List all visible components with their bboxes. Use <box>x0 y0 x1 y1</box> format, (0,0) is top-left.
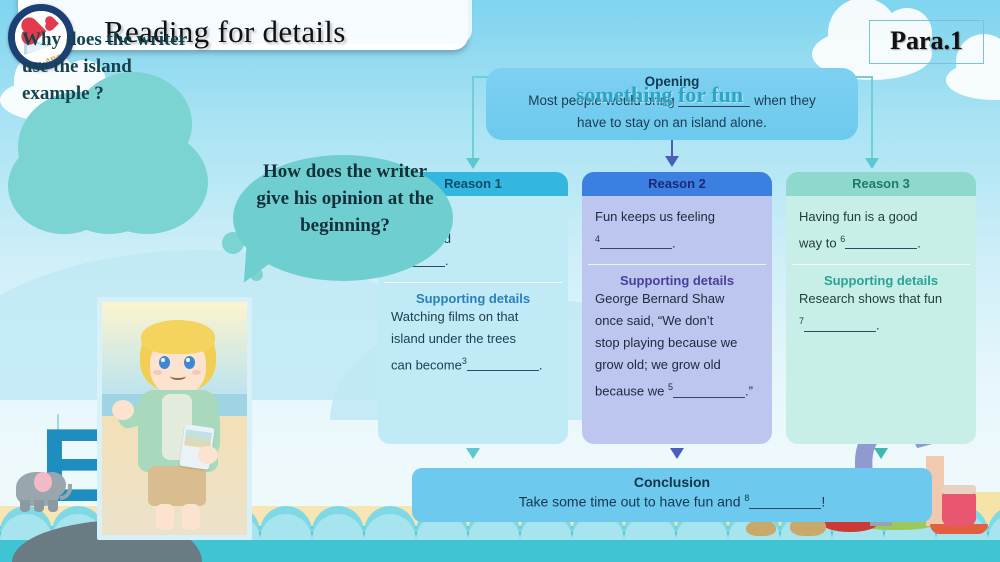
reason-2-sup-after: .” <box>745 384 753 399</box>
kid-character <box>126 318 230 528</box>
divider <box>588 264 766 265</box>
reason-3-sup-after: . <box>876 318 880 333</box>
reason-3-header: Reason 3 <box>786 172 976 196</box>
reason-2-sup-line4: grow old; we grow old <box>595 354 759 376</box>
conclusion-box: Conclusion Take some time out to have fu… <box>412 468 932 522</box>
conclusion-title: Conclusion <box>412 468 932 490</box>
paragraph-badge: Para.1 <box>869 20 984 64</box>
elephant-icon <box>8 460 70 512</box>
reason-3-supporting-body: Research shows that fun 7. <box>786 288 976 336</box>
reason-2-blank[interactable] <box>600 248 672 249</box>
arrow-down-icon <box>865 158 879 169</box>
reason-2-header: Reason 2 <box>582 172 772 196</box>
reason-2-sup-number: 5 <box>668 382 673 392</box>
divider <box>792 264 970 265</box>
reason-3-sup-number: 7 <box>799 316 804 326</box>
arrow-down-icon <box>466 448 480 459</box>
reason-3-blank-number: 6 <box>840 234 845 244</box>
reason-2-supporting-body: George Bernard Shaw once said, “We don’t… <box>582 288 772 402</box>
arrow-down-icon <box>670 448 684 459</box>
connector-line <box>871 76 873 162</box>
arrow-down-icon <box>466 158 480 169</box>
reason-1-sup-line2: island under the trees <box>391 328 555 350</box>
conclusion-after: ! <box>821 494 825 510</box>
reason-3-blank[interactable] <box>845 248 917 249</box>
arrow-down-icon <box>665 156 679 167</box>
reason-2-sup-blank[interactable] <box>673 397 745 398</box>
conclusion-body: Take some time out to have fun and 8! <box>412 490 932 510</box>
reason-1-sup-line3: can become <box>391 357 462 372</box>
reason-1-sup-line1: Watching films on that <box>391 306 555 328</box>
opening-answer-overlay: something for fun <box>576 82 743 108</box>
reason-card-3: Reason 3 Having fun is a good way to 6. … <box>786 172 976 444</box>
reason-3-line2: way to <box>799 235 837 250</box>
reason-1-supporting-body: Watching films on that island under the … <box>378 306 568 376</box>
reason-1-sup-after: . <box>539 357 543 372</box>
reason-1-sup-number: 3 <box>462 356 467 366</box>
speech-bubble-text: How does the writer give his opinion at … <box>250 158 440 239</box>
reason-2-sup-line3: stop playing because we <box>595 332 759 354</box>
conclusion-blank-number: 8 <box>744 493 749 503</box>
opening-text-line2: have to stay on an island alone. <box>577 115 767 130</box>
connector-line <box>472 76 474 162</box>
smile-icon <box>170 372 186 380</box>
reason-2-supporting-title: Supporting details <box>582 273 772 288</box>
eye-icon <box>159 356 170 369</box>
reason-2-blank-number: 4 <box>595 234 600 244</box>
reason-2-body: Fun keeps us feeling 4. <box>582 196 772 254</box>
arrow-down-icon <box>874 448 888 459</box>
reason-3-line1: Having fun is a good <box>799 206 963 228</box>
reason-2-sup-line1: George Bernard Shaw <box>595 288 759 310</box>
conclusion-blank[interactable] <box>749 508 821 509</box>
reason-1-supporting-title: Supporting details <box>378 291 568 306</box>
reason-3-sup-line1: Research shows that fun <box>799 288 963 310</box>
reason-2-line1: Fun keeps us feeling <box>595 206 759 228</box>
thought-bubble-text: Why does the writer use the island examp… <box>22 26 192 107</box>
flow-chart: Opening Most people would bring when the… <box>370 60 990 520</box>
reason-2-sup-line2: once said, “We don’t <box>595 310 759 332</box>
divider <box>384 282 562 283</box>
reason-card-2: Reason 2 Fun keeps us feeling 4. Support… <box>582 172 772 444</box>
reason-2-after: . <box>672 235 676 250</box>
reason-2-sup-line5: because we <box>595 384 664 399</box>
reason-3-after: . <box>917 235 921 250</box>
conclusion-text: Take some time out to have fun and <box>519 494 741 510</box>
reason-3-sup-blank[interactable] <box>804 331 876 332</box>
speech-bubble-tail <box>244 249 286 286</box>
pebble-shape <box>746 520 776 536</box>
reason-1-sup-blank[interactable] <box>467 370 539 371</box>
reason-3-supporting-title: Supporting details <box>786 273 976 288</box>
reason-3-body: Having fun is a good way to 6. <box>786 196 976 254</box>
student-illustration <box>97 297 252 540</box>
opening-text-middle: when they <box>754 93 816 108</box>
eye-icon <box>184 356 195 369</box>
